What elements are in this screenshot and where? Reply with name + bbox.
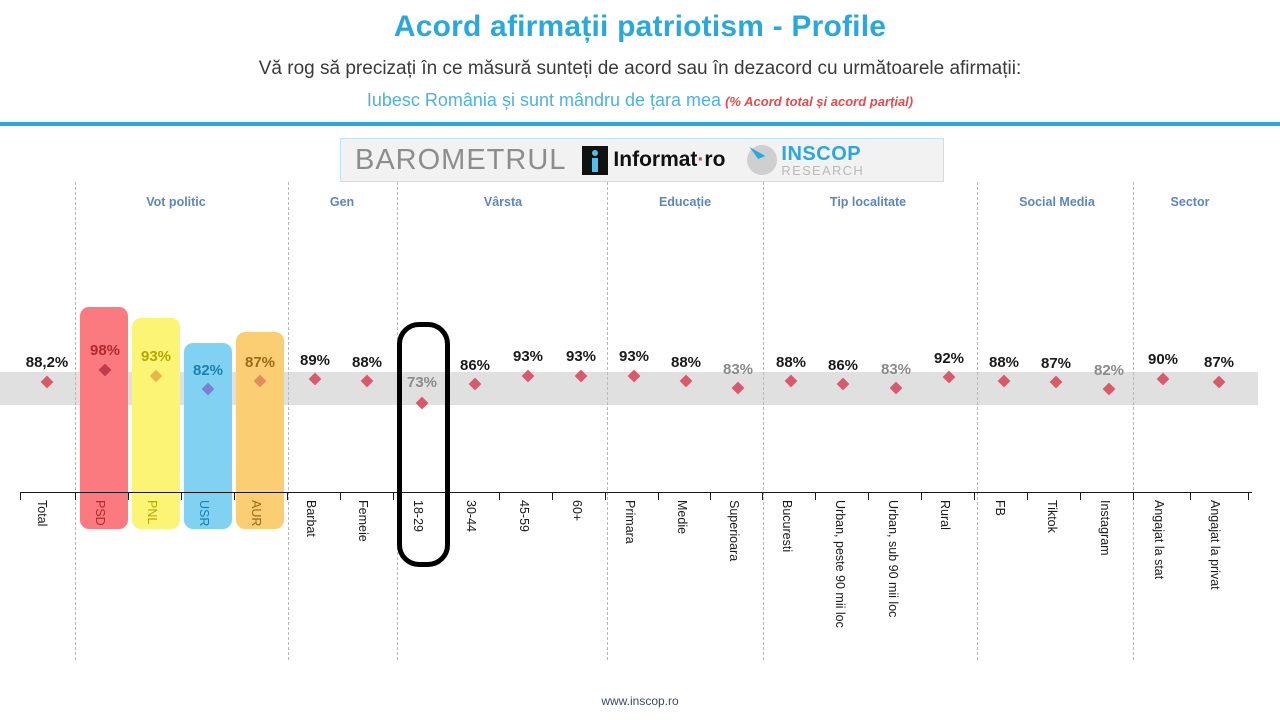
informat-logo-text: Informat·ro: [613, 148, 725, 172]
value-label: 93%: [619, 348, 649, 365]
axis-tick: [234, 492, 235, 500]
value-label: 92%: [934, 350, 964, 367]
group-title-sector: Sector: [1171, 195, 1210, 209]
logo-bar: BAROMETRUL Informat·ro INSCOP RESEARCH: [340, 138, 944, 182]
axis-tick: [605, 492, 606, 500]
page-title: Acord afirmații patriotism - Profile: [0, 10, 1280, 44]
axis-tick: [181, 492, 182, 500]
category-label: Urban, peste 90 mii loc: [833, 500, 847, 628]
axis-tick: [1080, 492, 1081, 500]
category-label: Angajat la privat: [1208, 500, 1222, 590]
category-label: 60+: [570, 500, 584, 521]
axis-tick: [974, 492, 975, 500]
category-label: Barbat: [304, 500, 318, 537]
group-title-vot-politic: Vot politic: [146, 195, 206, 209]
group-title-educa-ie: Educație: [659, 195, 711, 209]
category-label: Primara: [623, 500, 637, 544]
value-label: 83%: [881, 361, 911, 378]
category-label: FB: [993, 500, 1007, 516]
axis-tick: [815, 492, 816, 500]
inscop-name: INSCOP: [781, 144, 864, 164]
axis-tick: [75, 492, 76, 500]
value-label: 88,2%: [26, 354, 69, 371]
value-label: 98%: [90, 342, 120, 359]
axis-tick: [552, 492, 553, 500]
value-label: 93%: [566, 348, 596, 365]
category-label: Instagram: [1098, 500, 1112, 556]
category-label: PSD: [93, 500, 107, 526]
category-label: Tiktok: [1045, 500, 1059, 533]
value-label: 93%: [141, 348, 171, 365]
group-separator: [977, 182, 978, 660]
category-label: Urban, sub 90 mii loc: [886, 500, 900, 617]
category-label: Total: [35, 500, 49, 526]
group-title-tip-localitate: Tip localitate: [830, 195, 906, 209]
category-label: 18-29: [411, 500, 425, 532]
inscop-logo-text: INSCOP RESEARCH: [781, 144, 864, 177]
group-separator: [763, 182, 764, 660]
category-label: Medie: [675, 500, 689, 534]
chart-area: Vot politicGenVârstaEducațieTip localita…: [0, 182, 1280, 682]
value-label: 82%: [193, 362, 223, 379]
value-label: 73%: [407, 374, 437, 391]
value-label: 87%: [245, 354, 275, 371]
value-label: 88%: [671, 354, 701, 371]
group-title-v-rsta: Vârsta: [484, 195, 522, 209]
informat-mark-icon: [582, 146, 608, 175]
group-separator: [607, 182, 608, 660]
axis-tick: [20, 492, 21, 500]
group-title-gen: Gen: [330, 195, 354, 209]
axis-tick: [710, 492, 711, 500]
question-line: Iubesc România și sunt mândru de țara me…: [0, 90, 1280, 111]
value-label: 83%: [723, 361, 753, 378]
group-separator: [288, 182, 289, 660]
question-text: Iubesc România și sunt mândru de țara me…: [367, 90, 721, 110]
axis-tick: [499, 492, 500, 500]
inscop-mark-icon: [747, 145, 777, 175]
value-label: 86%: [828, 357, 858, 374]
axis-tick: [1248, 492, 1249, 500]
value-label: 88%: [776, 354, 806, 371]
axis-tick: [921, 492, 922, 500]
bar-psd: [80, 307, 128, 529]
category-label: Angajat la stat: [1152, 500, 1166, 579]
axis-tick: [446, 492, 447, 500]
value-label: 82%: [1094, 362, 1124, 379]
category-label: Superioara: [727, 500, 741, 561]
category-label: AUR: [249, 500, 263, 526]
group-separator: [1133, 182, 1134, 660]
question-note: (% Acord total și acord parțial): [725, 94, 913, 109]
category-label: PNL: [145, 500, 159, 524]
group-separator: [75, 182, 76, 660]
category-label: Rural: [938, 500, 952, 530]
value-label: 87%: [1204, 354, 1234, 371]
axis-tick: [762, 492, 763, 500]
category-label: USR: [197, 500, 211, 526]
value-label: 88%: [352, 354, 382, 371]
inscop-sub: RESEARCH: [781, 164, 864, 177]
inscop-logo: INSCOP RESEARCH: [747, 144, 864, 177]
footer-url: www.inscop.ro: [0, 694, 1280, 708]
x-axis-line: [20, 492, 1252, 493]
value-label: 88%: [989, 354, 1019, 371]
subtitle: Vă rog să precizați în ce măsură sunteți…: [0, 58, 1280, 80]
axis-tick: [1027, 492, 1028, 500]
axis-tick: [1133, 492, 1134, 500]
axis-tick: [393, 492, 394, 500]
value-label: 90%: [1148, 351, 1178, 368]
category-label: Femeie: [356, 500, 370, 542]
category-label: 45-59: [517, 500, 531, 532]
value-label: 93%: [513, 348, 543, 365]
slide-root: Acord afirmații patriotism - Profile Vă …: [0, 0, 1280, 720]
axis-tick: [287, 492, 288, 500]
axis-tick: [340, 492, 341, 500]
category-label: 30-44: [464, 500, 478, 532]
category-label: Bucuresti: [780, 500, 794, 552]
informat-logo: Informat·ro: [582, 146, 725, 175]
value-label: 89%: [300, 352, 330, 369]
group-separator: [397, 182, 398, 660]
group-title-social-media: Social Media: [1019, 195, 1095, 209]
value-label: 86%: [460, 357, 490, 374]
axis-tick: [868, 492, 869, 500]
axis-tick: [128, 492, 129, 500]
axis-tick: [1190, 492, 1191, 500]
axis-tick: [658, 492, 659, 500]
header-divider: [0, 122, 1280, 126]
value-label: 87%: [1041, 355, 1071, 372]
barometrul-logo-text: BAROMETRUL: [341, 144, 566, 177]
